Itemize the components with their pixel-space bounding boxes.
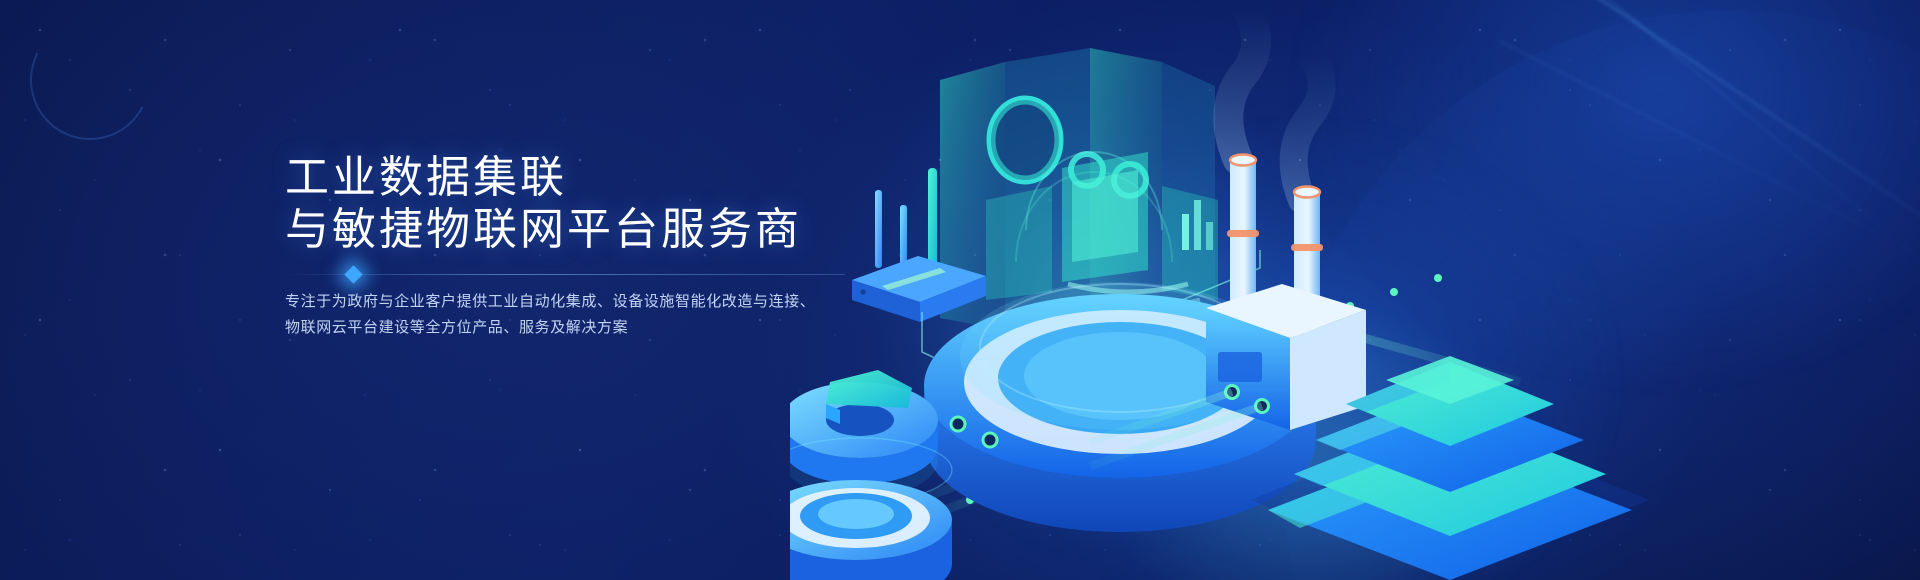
antenna-icon-1 bbox=[875, 190, 882, 268]
hero-banner: 工业数据集联 与敏捷物联网平台服务商 专注于为政府与企业客户提供工业自动化集成、… bbox=[0, 0, 1920, 580]
chimney-ring-1 bbox=[1227, 230, 1259, 237]
hero-illustration bbox=[790, 0, 1920, 580]
diamond-glow-icon bbox=[344, 265, 362, 283]
data-panel-left bbox=[986, 186, 1052, 300]
headline-divider bbox=[285, 274, 845, 275]
antenna-icon-3 bbox=[928, 168, 937, 274]
smoke-icon-2 bbox=[1294, 54, 1322, 200]
dome-port-icon-1 bbox=[951, 417, 965, 431]
chimney-ring-2 bbox=[1291, 244, 1323, 251]
moon-arc-decoration bbox=[14, 4, 165, 155]
ring-disc-base[interactable] bbox=[790, 480, 952, 580]
dome-port-icon-2 bbox=[983, 433, 997, 447]
factory-window bbox=[1218, 352, 1262, 382]
